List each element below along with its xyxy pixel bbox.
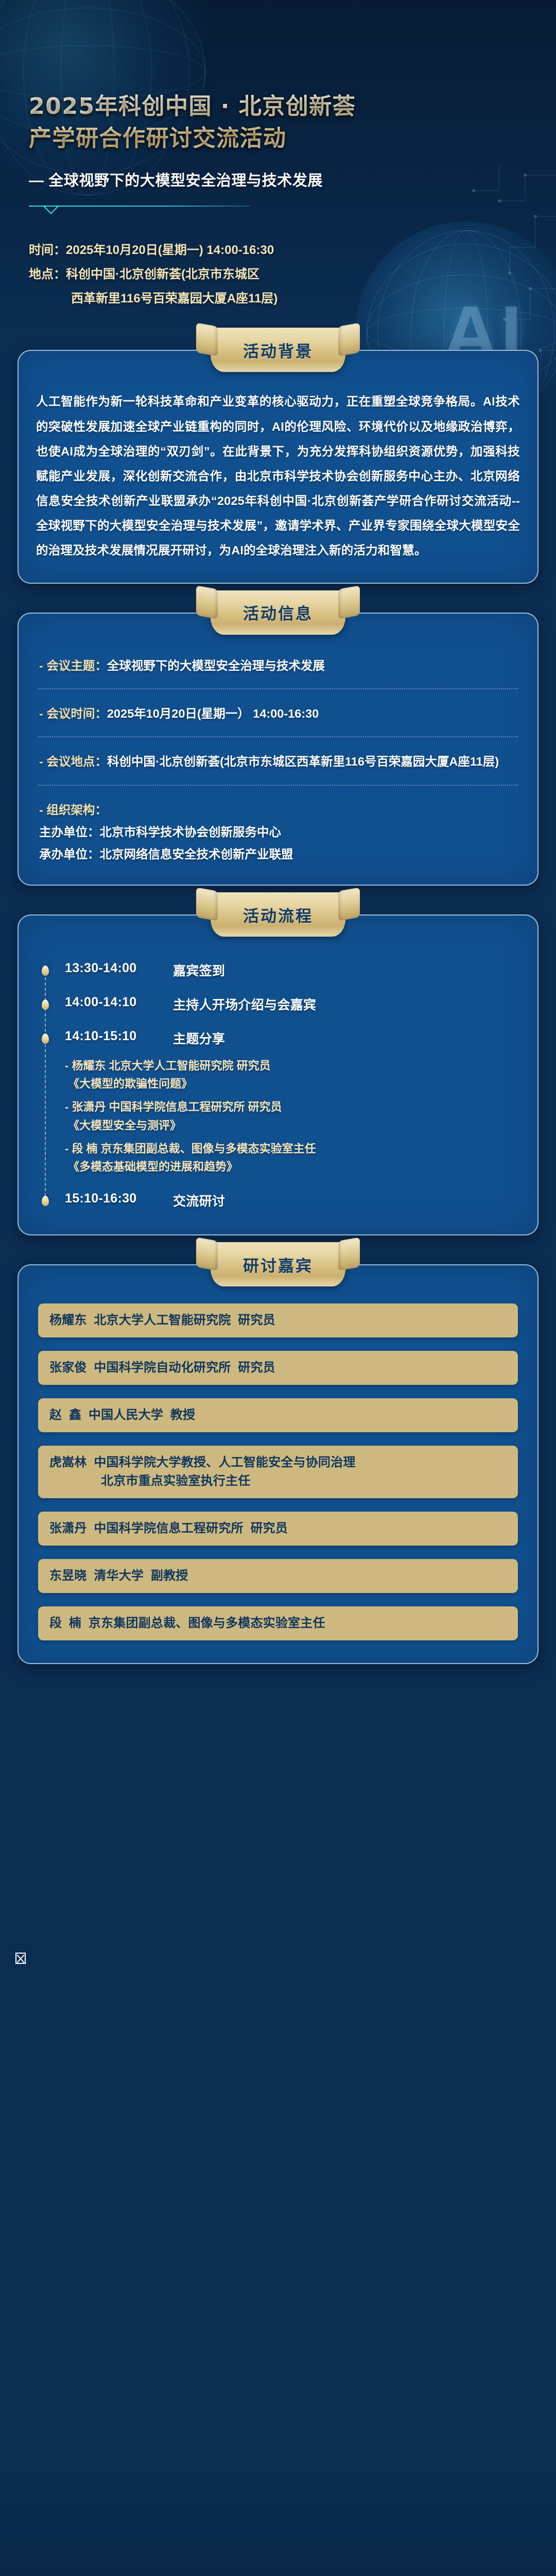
card-guests: 杨耀东 北京大学人工智能研究院 研究员 张家俊 中国科学院自动化研究所 研究员 … bbox=[18, 1264, 538, 1664]
ribbon-label-schedule: 活动流程 bbox=[243, 903, 313, 926]
info-place-label: - 会议地点： bbox=[39, 755, 107, 768]
schedule-list: 13:30-14:00 嘉宾签到 14:00-14:10 主持人开场介绍与会嘉宾… bbox=[36, 954, 520, 1215]
poster-subtitle: — 全球视野下的大模型安全治理与技术发展 bbox=[29, 168, 527, 190]
info-topic-row: - 会议主题：全球视野下的大模型安全治理与技术发展 bbox=[36, 652, 520, 677]
card-schedule: 13:30-14:00 嘉宾签到 14:00-14:10 主持人开场介绍与会嘉宾… bbox=[18, 914, 538, 1235]
guest-item: 杨耀东 北京大学人工智能研究院 研究员 bbox=[38, 1303, 518, 1337]
guest-line: 杨耀东 北京大学人工智能研究院 研究员 bbox=[49, 1311, 507, 1330]
info-place-value: 科创中国·北京创新荟(北京市东城区西革新里116号百荣嘉园大厦A座11层) bbox=[107, 755, 499, 768]
schedule-item-time: 13:30-14:00 bbox=[65, 961, 152, 979]
ribbon-info: 活动信息 bbox=[211, 590, 345, 635]
schedule-talk-list: - 杨耀东 北京大学人工智能研究院 研究员 《大模型的欺骗性问题》 - 张潇丹 … bbox=[65, 1057, 520, 1176]
poster-main-title: 2025年科创中国 · 北京创新荟 产学研合作研讨交流活动 bbox=[29, 91, 527, 155]
info-time-label: - 会议时间： bbox=[39, 707, 107, 720]
schedule-talk: - 杨耀东 北京大学人工智能研究院 研究员 《大模型的欺骗性问题》 bbox=[65, 1057, 520, 1093]
info-topic-value: 全球视野下的大模型安全治理与技术发展 bbox=[107, 659, 325, 672]
info-host-line: 主办单位：北京市科学技术协会创新服务中心 bbox=[39, 821, 517, 843]
info-divider-1 bbox=[38, 688, 518, 689]
section-info: 活动信息 - 会议主题：全球视野下的大模型安全治理与技术发展 - 会议时间：20… bbox=[18, 613, 538, 886]
ribbon-guests: 研讨嘉宾 bbox=[211, 1242, 345, 1286]
schedule-item-head: 14:10-15:10 主题分享 bbox=[65, 1029, 520, 1047]
schedule-item-head: 14:00-14:10 主持人开场介绍与会嘉宾 bbox=[65, 995, 520, 1013]
schedule-item-label: 嘉宾签到 bbox=[173, 961, 225, 979]
hero-time-row: 时间：2025年10月20日(星期一) 14:00-16:30 bbox=[29, 239, 527, 263]
hero-meta-block: 时间：2025年10月20日(星期一) 14:00-16:30 地点：科创中国·… bbox=[29, 239, 527, 311]
hero-place-value-1: 科创中国·北京创新荟(北京市东城区 bbox=[66, 267, 259, 281]
guest-line: 张家俊 中国科学院自动化研究所 研究员 bbox=[49, 1359, 507, 1377]
info-org-label-line: - 组织架构： bbox=[39, 799, 517, 821]
info-org-label: - 组织架构： bbox=[39, 803, 107, 817]
schedule-item-time: 14:00-14:10 bbox=[65, 995, 152, 1013]
ribbon-schedule: 活动流程 bbox=[211, 892, 345, 937]
schedule-talk: - 段 楠 京东集团副总裁、图像与多模态实验室主任 《多模态基础模型的进展和趋势… bbox=[65, 1140, 520, 1176]
guest-line-2: 北京市重点实验室执行主任 bbox=[49, 1472, 507, 1490]
timeline-bullet-icon bbox=[42, 1196, 49, 1206]
section-schedule: 活动流程 13:30-14:00 嘉宾签到 14:00-14:10 主持人开场介… bbox=[18, 914, 538, 1235]
info-place-row: - 会议地点：科创中国·北京创新荟(北京市东城区西革新里116号百荣嘉园大厦A座… bbox=[36, 748, 520, 773]
info-topic-line: - 会议主题：全球视野下的大模型安全治理与技术发展 bbox=[39, 655, 517, 677]
talk-speaker: - 杨耀东 北京大学人工智能研究院 研究员 bbox=[65, 1057, 520, 1075]
hero-section: 2025年科创中国 · 北京创新荟 产学研合作研讨交流活动 — 全球视野下的大模… bbox=[0, 0, 556, 311]
background-paragraph: 人工智能作为新一轮科技革命和产业变革的核心驱动力，正在重塑全球竞争格局。AI技术… bbox=[36, 389, 520, 563]
info-org-row: - 组织架构： 主办单位：北京市科学技术协会创新服务中心 承办单位：北京网络信息… bbox=[36, 796, 520, 865]
card-background: 人工智能作为新一轮科技革命和产业变革的核心驱动力，正在重塑全球竞争格局。AI技术… bbox=[18, 350, 538, 583]
section-background: 活动背景 人工智能作为新一轮科技革命和产业变革的核心驱动力，正在重塑全球竞争格局… bbox=[18, 350, 538, 583]
tofu-box-icon bbox=[15, 1953, 26, 1964]
talk-speaker: - 段 楠 京东集团副总裁、图像与多模态实验室主任 bbox=[65, 1140, 520, 1158]
ribbon-label-guests: 研讨嘉宾 bbox=[243, 1253, 313, 1276]
schedule-item-label: 交流研讨 bbox=[173, 1191, 225, 1210]
schedule-talk: - 张潇丹 中国科学院信息工程研究所 研究员 《大模型安全与测评》 bbox=[65, 1098, 520, 1134]
guest-line: 虎嵩林 中国科学院大学教授、人工智能安全与协同治理 bbox=[49, 1453, 507, 1472]
talk-title: 《大模型安全与测评》 bbox=[65, 1116, 520, 1134]
section-guests: 研讨嘉宾 杨耀东 北京大学人工智能研究院 研究员 张家俊 中国科学院自动化研究所… bbox=[18, 1264, 538, 1664]
guest-item: 赵 鑫 中国人民大学 教授 bbox=[38, 1398, 518, 1432]
schedule-item-label: 主持人开场介绍与会嘉宾 bbox=[173, 995, 316, 1013]
guest-item: 张家俊 中国科学院自动化研究所 研究员 bbox=[38, 1351, 518, 1385]
title-divider bbox=[29, 206, 250, 207]
hero-place-label: 地点： bbox=[29, 267, 66, 281]
ribbon-background: 活动背景 bbox=[211, 328, 345, 372]
schedule-item-time: 15:10-16:30 bbox=[65, 1191, 152, 1210]
hero-place-value-2: 西革新里116号百荣嘉园大厦A座11层) bbox=[29, 287, 527, 311]
guest-line: 张潇丹 中国科学院信息工程研究所 研究员 bbox=[49, 1519, 507, 1538]
timeline-bullet-icon bbox=[42, 999, 49, 1010]
guest-item: 段 楠 京东集团副总裁、图像与多模态实验室主任 bbox=[38, 1606, 518, 1640]
card-info: - 会议主题：全球视野下的大模型安全治理与技术发展 - 会议时间：2025年10… bbox=[18, 613, 538, 886]
schedule-item-head: 13:30-14:00 嘉宾签到 bbox=[65, 961, 520, 979]
schedule-item-time: 14:10-15:10 bbox=[65, 1029, 152, 1047]
schedule-item: 13:30-14:00 嘉宾签到 bbox=[36, 961, 520, 979]
timeline-bullet-icon bbox=[42, 965, 49, 976]
guest-line: 赵 鑫 中国人民大学 教授 bbox=[49, 1406, 507, 1425]
hero-time-label: 时间： bbox=[29, 243, 66, 257]
info-time-value: 2025年10月20日(星期一） 14:00-16:30 bbox=[107, 707, 319, 720]
title-block: 2025年科创中国 · 北京创新荟 产学研合作研讨交流活动 — 全球视野下的大模… bbox=[0, 0, 556, 311]
ribbon-label-background: 活动背景 bbox=[243, 338, 313, 362]
talk-speaker: - 张潇丹 中国科学院信息工程研究所 研究员 bbox=[65, 1098, 520, 1116]
schedule-item-head: 15:10-16:30 交流研讨 bbox=[65, 1191, 520, 1210]
schedule-item: 14:10-15:10 主题分享 - 杨耀东 北京大学人工智能研究院 研究员 《… bbox=[36, 1029, 520, 1176]
info-time-line: - 会议时间：2025年10月20日(星期一） 14:00-16:30 bbox=[39, 703, 517, 725]
info-time-row: - 会议时间：2025年10月20日(星期一） 14:00-16:30 bbox=[36, 700, 520, 725]
schedule-item-label: 主题分享 bbox=[173, 1029, 225, 1047]
info-divider-2 bbox=[38, 736, 518, 737]
hero-place-row: 地点：科创中国·北京创新荟(北京市东城区 西革新里116号百荣嘉园大厦A座11层… bbox=[29, 263, 527, 311]
guest-item: 东昱晓 清华大学 副教授 bbox=[38, 1559, 518, 1593]
guest-item: 虎嵩林 中国科学院大学教授、人工智能安全与协同治理 北京市重点实验室执行主任 bbox=[38, 1446, 518, 1498]
guest-item: 张潇丹 中国科学院信息工程研究所 研究员 bbox=[38, 1512, 518, 1546]
hero-time-value: 2025年10月20日(星期一) 14:00-16:30 bbox=[66, 243, 274, 257]
guest-line: 段 楠 京东集团副总裁、图像与多模态实验室主任 bbox=[49, 1614, 507, 1633]
talk-title: 《多模态基础模型的进展和趋势》 bbox=[65, 1158, 520, 1176]
info-place-line: - 会议地点：科创中国·北京创新荟(北京市东城区西革新里116号百荣嘉园大厦A座… bbox=[39, 751, 517, 773]
schedule-item: 14:00-14:10 主持人开场介绍与会嘉宾 bbox=[36, 995, 520, 1013]
info-topic-label: - 会议主题： bbox=[39, 659, 107, 672]
ribbon-label-info: 活动信息 bbox=[243, 601, 313, 624]
info-divider-3 bbox=[38, 785, 518, 786]
main-title-line-1: 2025年科创中国 · 北京创新荟 bbox=[29, 93, 356, 120]
main-title-line-2: 产学研合作研讨交流活动 bbox=[29, 123, 527, 155]
timeline-bullet-icon bbox=[42, 1033, 49, 1044]
talk-title: 《大模型的欺骗性问题》 bbox=[65, 1075, 520, 1093]
schedule-item: 15:10-16:30 交流研讨 bbox=[36, 1191, 520, 1210]
info-organizer-line: 承办单位：北京网络信息安全技术创新产业联盟 bbox=[39, 843, 517, 865]
guest-line: 东昱晓 清华大学 副教授 bbox=[49, 1567, 507, 1585]
